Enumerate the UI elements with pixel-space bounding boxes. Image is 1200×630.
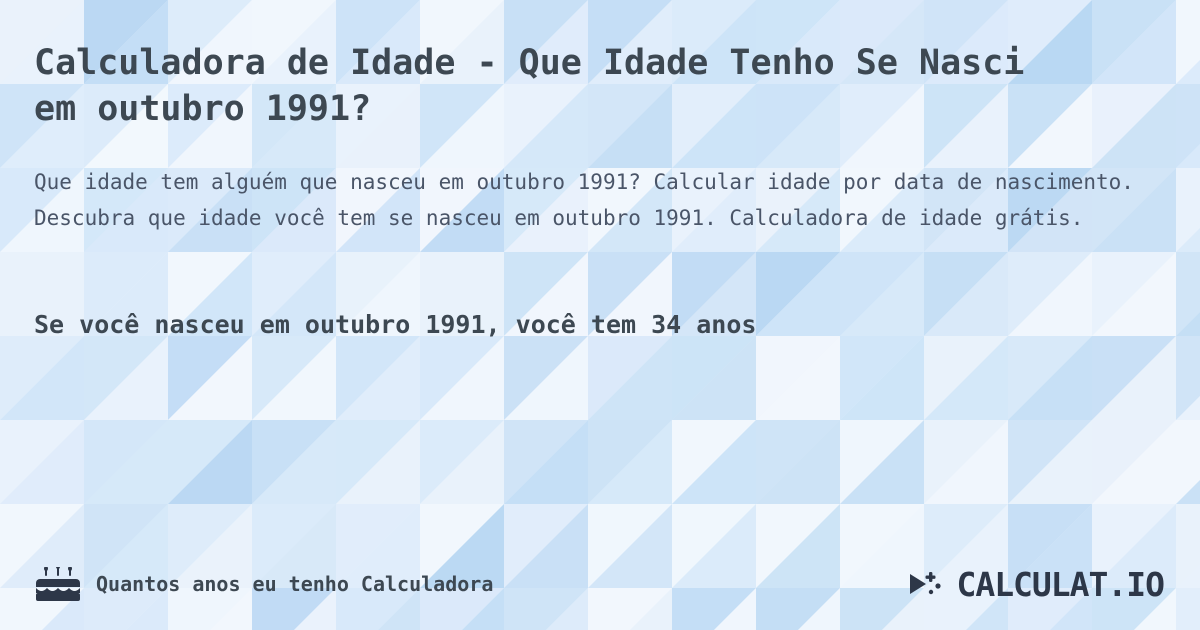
birthday-cake-icon [36, 567, 80, 601]
page-title: Calculadora de Idade - Que Idade Tenho S… [34, 40, 1034, 132]
footer: Quantos anos eu tenho Calculadora CALCUL… [0, 538, 1200, 630]
footer-site-label: Quantos anos eu tenho Calculadora [96, 572, 493, 596]
footer-brand-left: Quantos anos eu tenho Calculadora [36, 567, 493, 601]
footer-brand-right: CALCULAT.IO [906, 564, 1164, 604]
brand-wordmark: CALCULAT.IO [956, 565, 1164, 604]
page-content: Calculadora de Idade - Que Idade Tenho S… [0, 0, 1200, 630]
calculator-spark-icon [906, 564, 946, 604]
page-description: Que idade tem alguém que nasceu em outub… [34, 164, 1139, 236]
age-answer: Se você nasceu em outubro 1991, você tem… [34, 306, 1094, 344]
